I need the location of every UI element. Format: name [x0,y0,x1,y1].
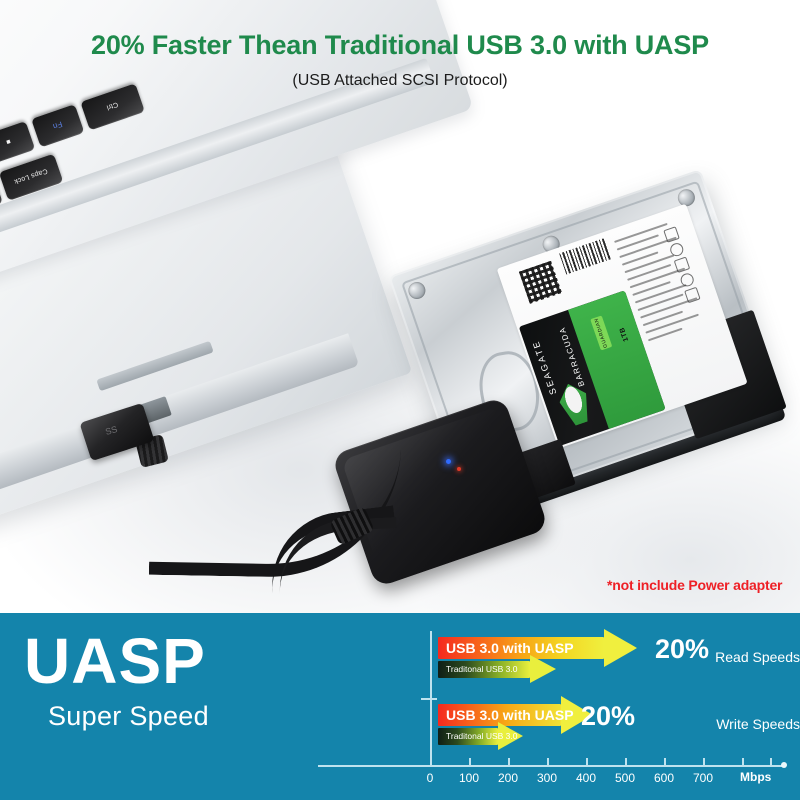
power-led-icon [446,459,451,464]
bar-write-annotation: 20% [581,701,635,732]
chart-x-tick [770,758,772,766]
chart-x-tick [469,758,471,766]
chart-x-tick [742,758,744,766]
chart-x-axis [318,765,783,767]
chart-x-tick [586,758,588,766]
chart-axis-mid-tick [421,698,437,700]
bar-label: Traditonal USB 3.0 [446,728,518,745]
product-marketing-image: B V C X Z Alt ■ Fn Ctrl G F D S A ⇧ Shif… [0,0,800,800]
bar-label: Traditonal USB 3.0 [446,661,518,678]
speed-comparison-chart: Read Speeds Write Speeds 0 100 200 300 4… [300,613,800,800]
uasp-brand-subtitle: Super Speed [48,701,209,732]
chart-x-label: 0 [410,771,450,785]
barcode [559,238,612,274]
chart-category-write: Write Speeds [680,716,800,732]
certification-icon [663,226,680,243]
page-subheadline: (USB Attached SCSI Protocol) [0,72,800,90]
seagate-logo-icon [555,379,595,428]
bar-read-annotation: 20% [655,634,709,665]
product-photo: B V C X Z Alt ■ Fn Ctrl G F D S A ⇧ Shif… [0,0,800,614]
chart-x-tick [508,758,510,766]
chart-x-label: 300 [527,771,567,785]
certification-icon [674,257,691,274]
caps-lock-key: Caps Lock [0,154,63,201]
chart-x-label: 600 [644,771,684,785]
qr-code [519,261,562,304]
chart-x-label: 400 [566,771,606,785]
chart-x-tick [430,758,432,766]
chart-x-label: 700 [683,771,723,785]
certification-icon [684,287,701,304]
chart-x-tick [625,758,627,766]
chart-x-label: 500 [605,771,645,785]
chart-x-axis-unit: Mbps [740,770,771,784]
superspeed-usb-icon: SS [104,421,128,439]
chart-x-label: 200 [488,771,528,785]
uasp-brand-title: UASP [24,629,206,693]
chart-x-axis-arrow-icon [781,762,787,768]
chart-x-tick [664,758,666,766]
power-adapter-disclaimer: *not include Power adapter [607,577,782,593]
chart-x-tick [547,758,549,766]
activity-led-icon [457,467,461,471]
chart-x-label: 100 [449,771,489,785]
chart-x-tick [703,758,705,766]
windows-key-icon: ■ [0,121,35,164]
page-headline: 20% Faster Thean Traditional USB 3.0 wit… [0,30,800,61]
